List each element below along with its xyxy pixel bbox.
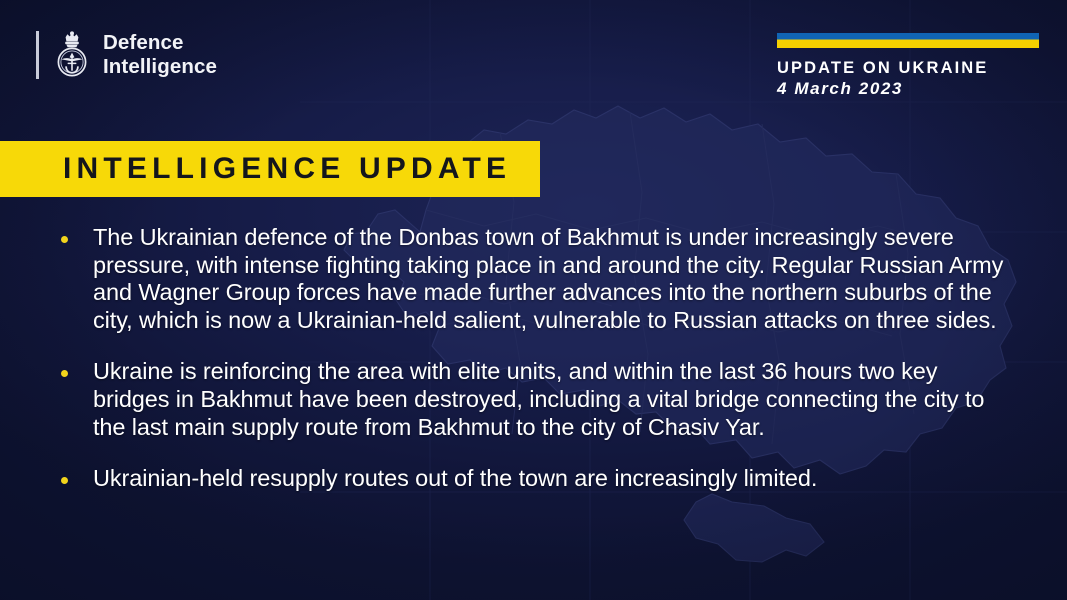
- banner-title: INTELLIGENCE UPDATE: [63, 152, 511, 186]
- logo-text: Defence Intelligence: [103, 31, 217, 79]
- list-item: Ukrainian-held resupply routes out of th…: [54, 465, 1015, 493]
- update-date: 4 March 2023: [777, 79, 1039, 99]
- bullet-text: Ukrainian-held resupply routes out of th…: [93, 465, 1015, 493]
- ukraine-flag-icon: [777, 33, 1039, 48]
- intelligence-update-slide: Defence Intelligence UPDATE ON UKRAINE 4…: [0, 0, 1067, 600]
- intelligence-update-banner: INTELLIGENCE UPDATE: [0, 141, 540, 197]
- logo-text-line1: Defence: [103, 31, 217, 55]
- defence-intelligence-logo: Defence Intelligence: [36, 30, 217, 80]
- bullet-dot-icon: [61, 370, 68, 377]
- update-header-block: UPDATE ON UKRAINE 4 March 2023: [777, 33, 1039, 100]
- update-title: UPDATE ON UKRAINE: [777, 59, 1039, 78]
- bullet-text: Ukraine is reinforcing the area with eli…: [93, 358, 1015, 441]
- header: Defence Intelligence UPDATE ON UKRAINE 4…: [0, 0, 1067, 130]
- royal-crest-icon: [52, 30, 92, 80]
- bullet-dot-icon: [61, 236, 68, 243]
- list-item: The Ukrainian defence of the Donbas town…: [54, 224, 1015, 334]
- bullet-list: The Ukrainian defence of the Donbas town…: [54, 224, 1015, 493]
- list-item: Ukraine is reinforcing the area with eli…: [54, 358, 1015, 441]
- logo-text-line2: Intelligence: [103, 55, 217, 79]
- bullet-dot-icon: [61, 477, 68, 484]
- logo-divider-rule: [36, 31, 39, 79]
- bullet-text: The Ukrainian defence of the Donbas town…: [93, 224, 1015, 334]
